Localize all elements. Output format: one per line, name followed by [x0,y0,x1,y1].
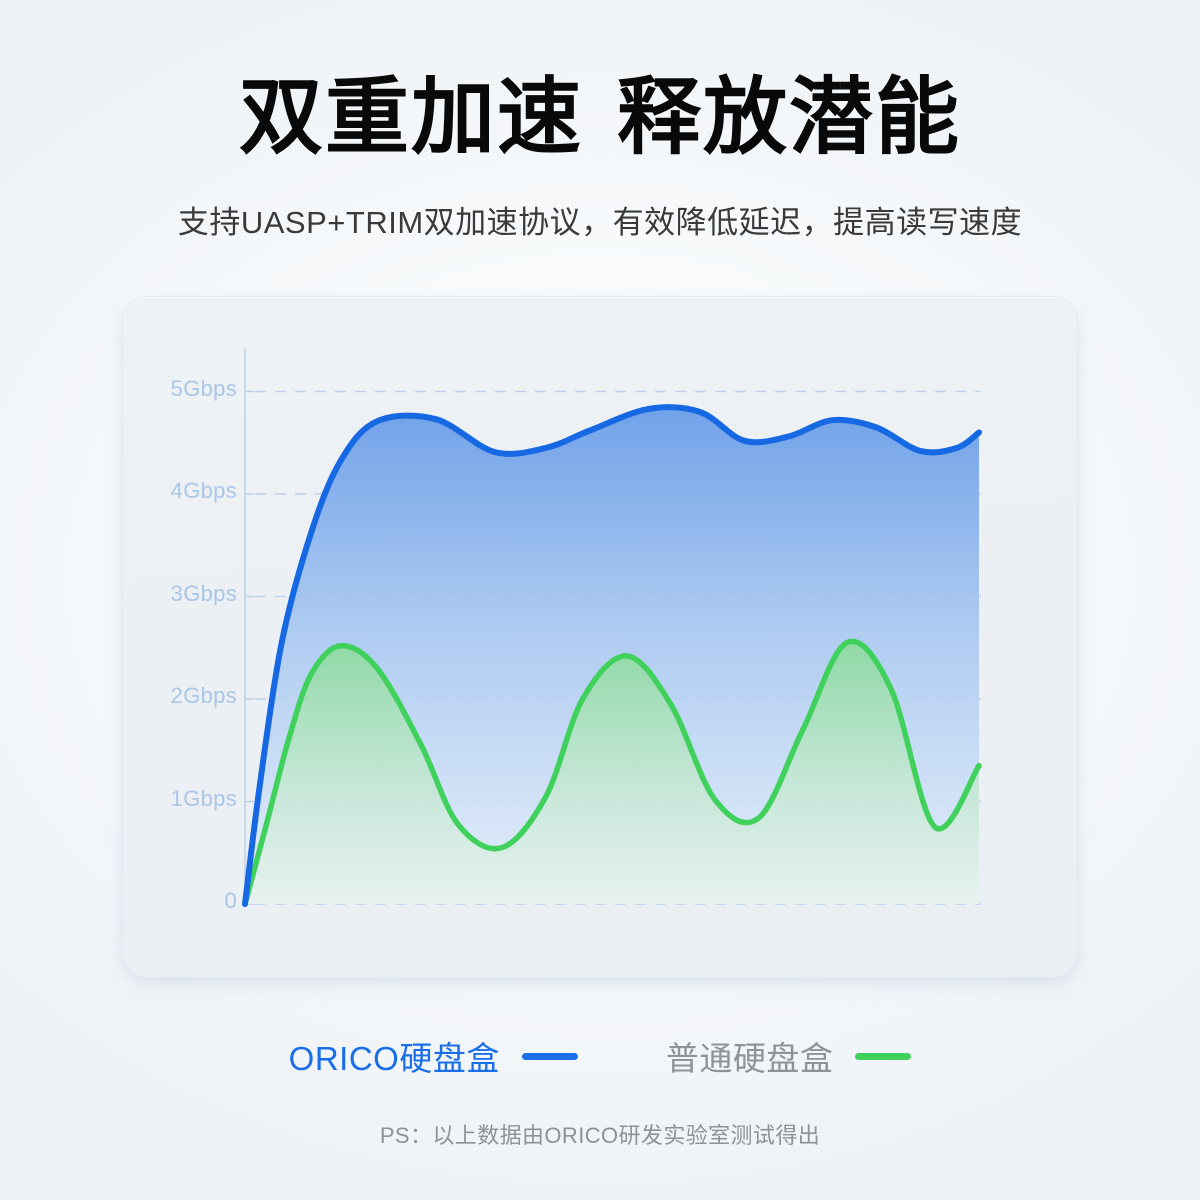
y-axis-labels: 5Gbps4Gbps3Gbps2Gbps1Gbps0 [141,297,237,977]
legend-label-generic: 普通硬盘盒 [666,1032,834,1080]
chart-card: 5Gbps4Gbps3Gbps2Gbps1Gbps0 [122,296,1078,978]
legend-item-orico: ORICO硬盘盒 [289,1032,578,1080]
y-axis-tick-label: 1Gbps [171,786,237,812]
chart-legend: ORICO硬盘盒 普通硬盘盒 [0,1032,1200,1080]
legend-label-orico: ORICO硬盘盒 [289,1032,500,1080]
promo-page: 双重加速释放潜能 支持UASP+TRIM双加速协议，有效降低延迟，提高读写速度 [0,0,1200,1200]
generic-series-area [245,641,979,904]
page-title-part-1: 双重加速 [239,70,583,164]
legend-item-generic: 普通硬盘盒 [666,1032,912,1080]
legend-swatch-orico [522,1053,578,1060]
speed-comparison-chart [123,297,1077,977]
y-axis-tick-label: 5Gbps [171,376,237,402]
legend-swatch-generic [855,1053,911,1060]
y-axis-tick-label: 0 [224,888,237,914]
y-axis-tick-label: 2Gbps [171,683,237,709]
page-title: 双重加速释放潜能 [0,72,1200,163]
chart-footnote: PS：以上数据由ORICO研发实验室测试得出 [0,1118,1200,1150]
y-axis-tick-label: 4Gbps [171,478,237,504]
page-subtitle: 支持UASP+TRIM双加速协议，有效降低延迟，提高读写速度 [0,203,1200,243]
page-title-part-2: 释放潜能 [617,70,961,164]
y-axis-tick-label: 3Gbps [171,581,237,607]
chart-area: 5Gbps4Gbps3Gbps2Gbps1Gbps0 [123,297,1077,977]
